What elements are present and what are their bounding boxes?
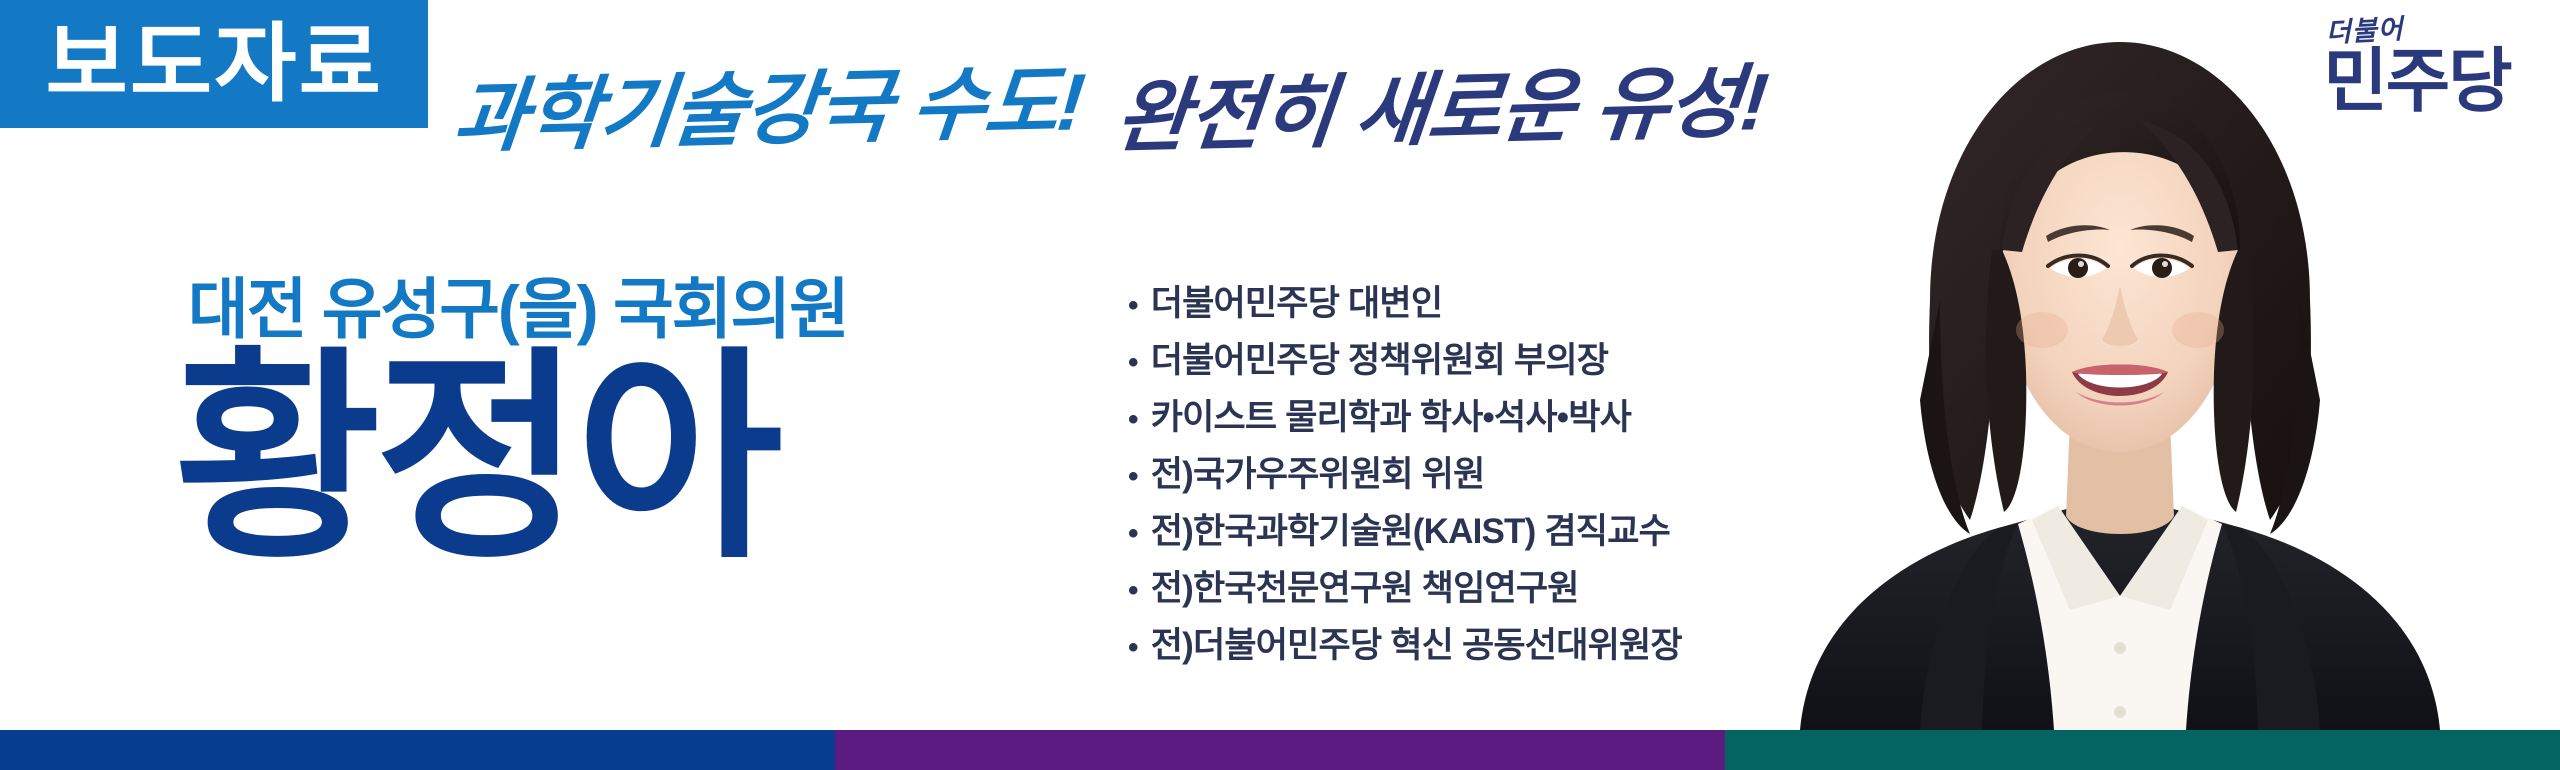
credential-text: 카이스트 물리학과 학사•석사•박사	[1151, 400, 1631, 435]
bullet-icon: •	[1128, 405, 1138, 435]
bullet-icon: •	[1128, 462, 1138, 492]
portrait-illustration	[1770, 0, 2470, 730]
credential-text: 더불어민주당 정책위원회 부의장	[1151, 343, 1608, 378]
credential-item: • 더불어민주당 정책위원회 부의장	[1128, 343, 1768, 378]
credentials-list: • 더불어민주당 대변인 • 더불어민주당 정책위원회 부의장 • 카이스트 물…	[1128, 286, 1768, 685]
bottom-bar-teal	[1725, 730, 2560, 770]
credential-text: 전)한국천문연구원 책임연구원	[1151, 571, 1579, 606]
campaign-tagline: 과학기술강국 수도! 완전히 새로운 유성!	[455, 62, 1815, 158]
credential-item: • 전)더불어민주당 혁신 공동선대위원장	[1128, 628, 1768, 663]
tagline-part-one: 과학기술강국 수도!	[450, 62, 1087, 157]
bullet-icon: •	[1128, 348, 1138, 378]
credential-item: • 전)한국천문연구원 책임연구원	[1128, 571, 1768, 606]
credential-text: 더불어민주당 대변인	[1151, 286, 1443, 321]
credential-item: • 전)한국과학기술원(KAIST) 겸직교수	[1128, 514, 1768, 549]
bullet-icon: •	[1128, 576, 1138, 606]
bottom-bar-navy	[0, 730, 835, 770]
candidate-portrait	[1770, 0, 2470, 730]
credential-item: • 카이스트 물리학과 학사•석사•박사	[1128, 400, 1768, 435]
credential-item: • 전)국가우주위원회 위원	[1128, 457, 1768, 492]
bottom-color-bars	[0, 730, 2560, 770]
press-release-badge: 보도자료	[0, 0, 428, 128]
press-release-badge-label: 보도자료	[45, 21, 382, 107]
bullet-icon: •	[1128, 519, 1138, 549]
credential-item: • 더불어민주당 대변인	[1128, 286, 1768, 321]
credential-text: 전)더불어민주당 혁신 공동선대위원장	[1151, 628, 1682, 663]
credential-text: 전)한국과학기술원(KAIST) 겸직교수	[1151, 514, 1670, 549]
bullet-icon: •	[1128, 633, 1138, 663]
credential-text: 전)국가우주위원회 위원	[1151, 457, 1485, 492]
candidate-name: 황정아	[174, 349, 1088, 567]
bottom-bar-purple	[835, 730, 1725, 770]
candidate-block: 대전 유성구(을) 국회의원 황정아	[188, 276, 1088, 568]
bullet-icon: •	[1128, 291, 1138, 321]
tagline-part-two: 완전히 새로운 유성!	[1112, 62, 1771, 158]
press-release-banner: 보도자료 과학기술강국 수도! 완전히 새로운 유성! 더불어 민주당 대전 유…	[0, 0, 2560, 770]
